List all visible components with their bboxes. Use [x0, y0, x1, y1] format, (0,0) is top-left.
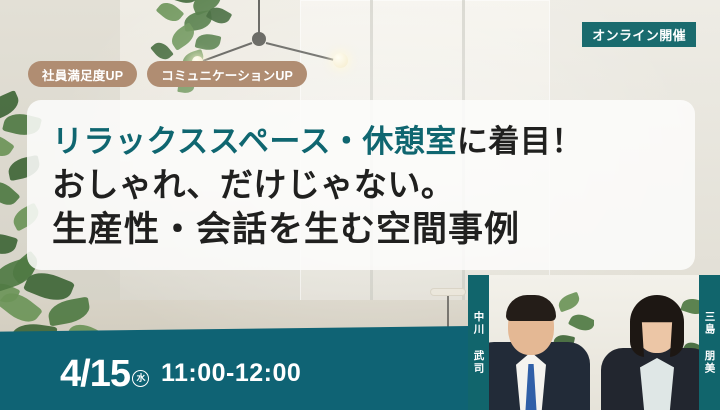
speaker-name-1: 中川 武司 — [472, 311, 484, 375]
headline-line-1-rest: に着目！ — [457, 124, 583, 159]
speaker-card-2: 三島 朋美 — [594, 275, 720, 410]
speaker-card-1: 中川 武司 — [468, 275, 594, 410]
headline-line-1: リラックススペース・休憩室に着目！ — [52, 122, 682, 162]
tag-list: 社員満足度UP コミュニケーションUP — [28, 61, 307, 87]
event-date-value: 4/15 — [60, 353, 130, 395]
headline-line-3: 生産性・会話を生む空間事例 — [52, 207, 682, 253]
speaker-name-strip-2: 三島 朋美 — [699, 275, 720, 410]
online-event-badge: オンライン開催 — [582, 22, 696, 47]
tag-communication: コミュニケーションUP — [147, 61, 307, 87]
tag-employee-satisfaction: 社員満足度UP — [28, 61, 137, 87]
headline-line-2: おしゃれ、だけじゃない。 — [52, 162, 682, 207]
speaker-shirt-2 — [640, 358, 674, 410]
webinar-banner: オンライン開催 社員満足度UP コミュニケーションUP リラックススペース・休憩… — [0, 0, 720, 410]
schedule-block: 4/15水 11:00-12:00 — [60, 337, 301, 410]
speaker-name-2: 三島 朋美 — [703, 311, 715, 375]
headline-accent-text: リラックススペース・休憩室 — [52, 124, 457, 159]
event-date: 4/15水 — [60, 355, 149, 393]
speaker-name-strip-1: 中川 武司 — [468, 275, 489, 410]
headline-block: リラックススペース・休憩室に着目！ おしゃれ、だけじゃない。 生産性・会話を生む… — [52, 122, 682, 253]
speaker-list: 中川 武司 三島 朋美 — [468, 275, 720, 410]
event-time: 11:00-12:00 — [161, 359, 301, 388]
event-weekday-badge: 水 — [132, 370, 149, 387]
